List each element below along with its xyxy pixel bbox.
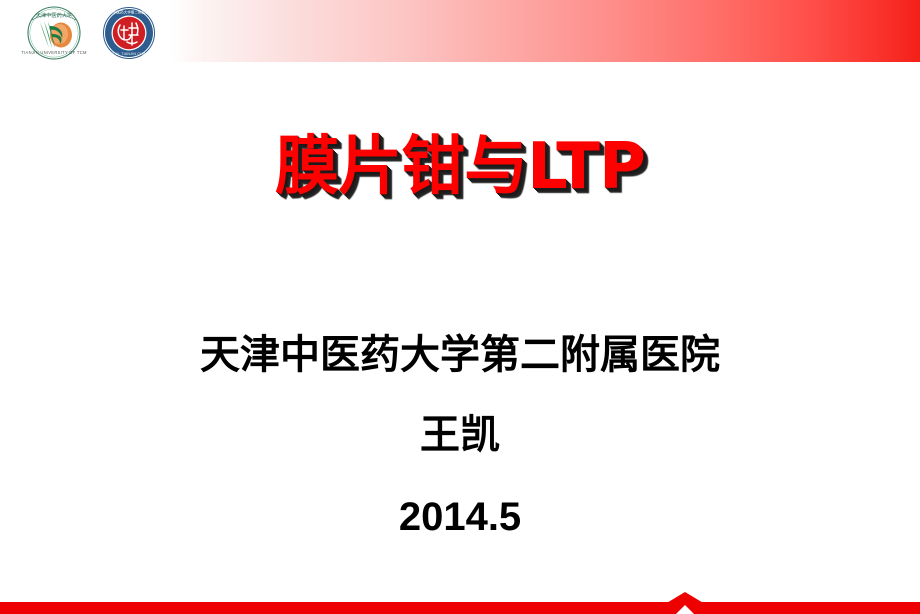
author-line: 王凯 [0,378,920,458]
subtitle-area: 天津中医药大学第二附属医院 王凯 2014.5 [0,332,920,540]
tianjin-tcm-second-hospital-logo: 天津中医药大学第二附属医院 T.C.M. TIANJIN CHINA [96,4,162,64]
tianjin-university-of-tcm-logo: 天津中医药大学 TIANJIN UNIVERSITY OF TCM [16,4,92,62]
date-line: 2014.5 [0,458,920,540]
svg-text:TIANJIN UNIVERSITY OF TCM: TIANJIN UNIVERSITY OF TCM [21,50,87,55]
svg-text:天津中医药大学: 天津中医药大学 [36,11,72,19]
title-area: 膜片钳与LTP [0,134,920,201]
organization-line: 天津中医药大学第二附属医院 [0,332,920,378]
svg-text:天津中医药大学第二附属医院: 天津中医药大学第二附属医院 [106,10,153,15]
footer-decoration-bar [0,592,920,614]
slide-canvas: 天津中医药大学 TIANJIN UNIVERSITY OF TCM 天 [0,0,920,614]
svg-text:T.C.M. TIANJIN CHINA: T.C.M. TIANJIN CHINA [108,52,150,56]
page-title: 膜片钳与LTP [275,134,645,201]
